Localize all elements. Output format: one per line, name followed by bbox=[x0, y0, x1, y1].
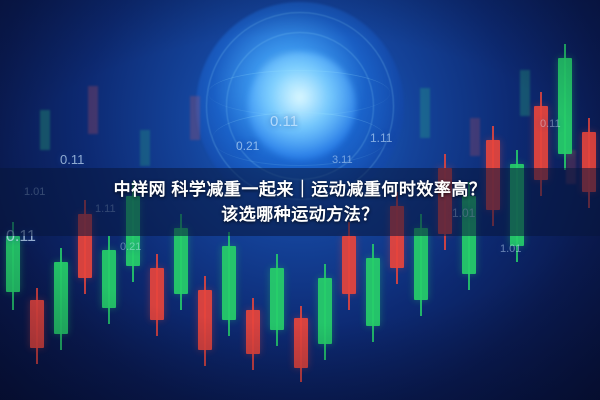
stock-banner-image: 0.110.211.110.113.111.011.111.010.110.21… bbox=[0, 0, 600, 400]
caption-line-1-text: 科学减重一起来｜运动减重何时效率高？ bbox=[166, 180, 486, 199]
caption-line-2: 该选哪种运动方法？ bbox=[221, 205, 379, 225]
caption-block: 中祥网 科学减重一起来｜运动减重何时效率高？ 该选哪种运动方法？ bbox=[0, 168, 600, 236]
site-name-label: 中祥网 bbox=[114, 180, 167, 199]
caption-line-1: 中祥网 科学减重一起来｜运动减重何时效率高？ bbox=[114, 180, 487, 200]
